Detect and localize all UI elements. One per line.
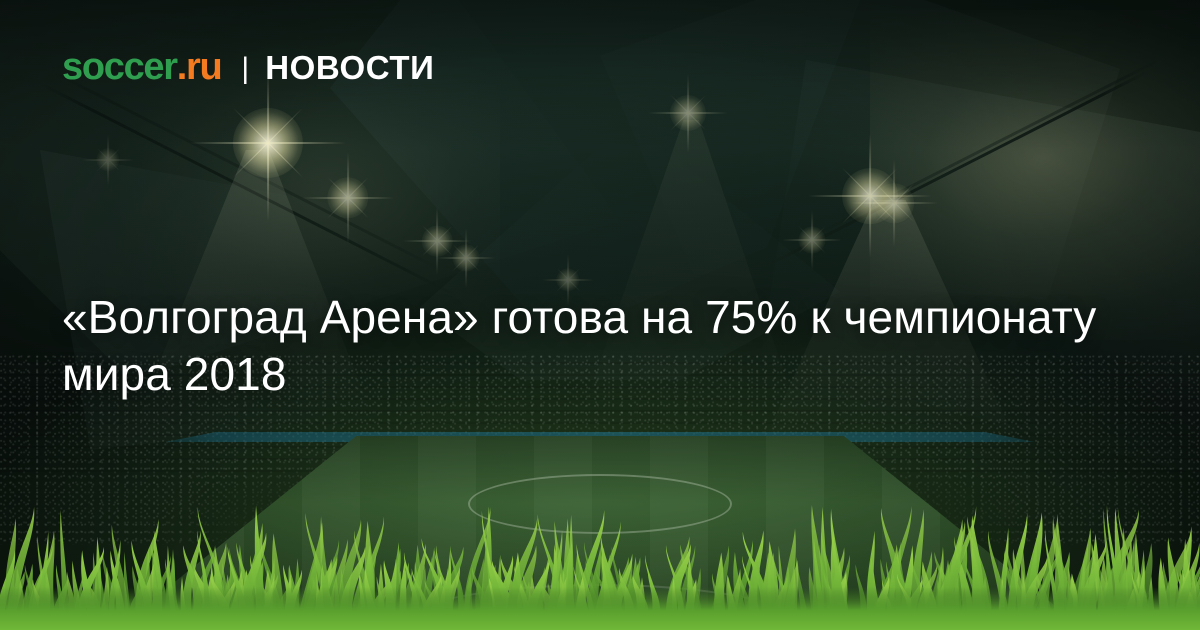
news-card: soccer.ru | НОВОСТИ «Волгоград Арена» го… [0,0,1200,630]
section-label-news: НОВОСТИ [265,51,434,84]
article-headline: «Волгоград Арена» готова на 75% к чемпио… [62,289,1122,403]
brand-logo[interactable]: soccer.ru | НОВОСТИ [62,48,434,86]
logo-text-ru: .ru [177,48,222,86]
logo-separator: | [241,54,249,84]
logo-text-soccer: soccer [62,48,177,86]
